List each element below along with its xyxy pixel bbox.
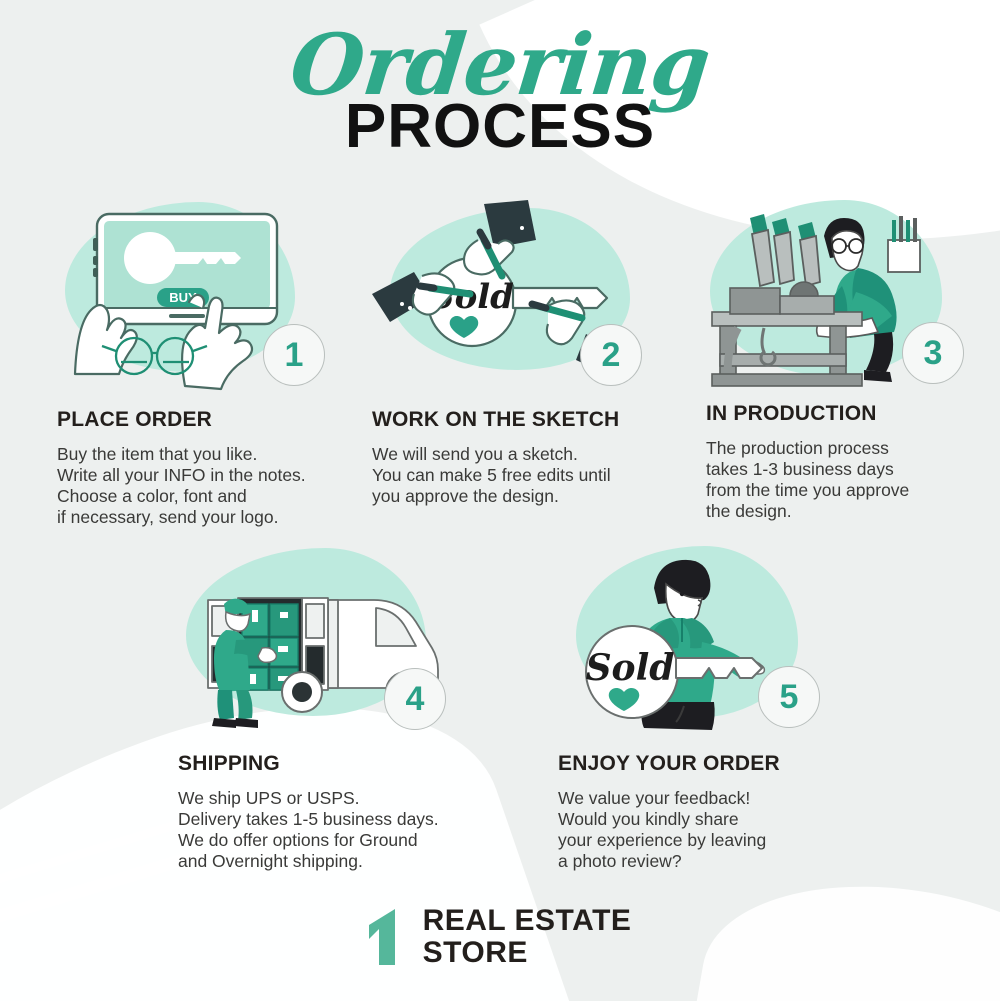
brand-line-1: REAL ESTATE [423, 905, 632, 937]
step-2-body: We will send you a sketch. You can make … [372, 444, 682, 507]
step-4-title: SHIPPING [178, 752, 508, 776]
step-3-illustration: 3 [706, 192, 1000, 382]
page-title: Ordering PROCESS [0, 18, 1000, 158]
step-3-badge: 3 [902, 322, 964, 384]
step-5-illustration: Sold 5 [558, 542, 858, 732]
brand-line-2: STORE [423, 937, 632, 969]
title-script: Ordering [0, 18, 1000, 112]
infographic-page: Ordering PROCESS [0, 0, 1000, 1001]
step-1-badge: 1 [263, 324, 325, 386]
sold-script-label: Sold [586, 647, 675, 689]
step-4-body: We ship UPS or USPS. Delivery takes 1-5 … [178, 788, 508, 872]
brand-footer: REAL ESTATE STORE [0, 905, 1000, 969]
step-3-body: The production process takes 1-3 busines… [706, 438, 1000, 522]
step-5-badge: 5 [758, 666, 820, 728]
step-3-number: 3 [924, 334, 943, 373]
step-2-badge: 2 [580, 324, 642, 386]
step-5-number: 5 [780, 678, 799, 717]
house-roof-icon [369, 909, 409, 965]
step-5: Sold 5 ENJOY YOUR ORDER We value your fe… [558, 542, 888, 872]
step-1-number: 1 [285, 336, 304, 375]
step-1: BUY 1 [57, 196, 367, 528]
hand-top [464, 200, 536, 276]
step-2-illustration: Sold [372, 196, 672, 386]
step-1-title: PLACE ORDER [57, 408, 367, 432]
step-2: Sold [372, 196, 682, 507]
step-1-body: Buy the item that you like. Write all yo… [57, 444, 367, 528]
step-4: 4 SHIPPING We ship UPS or USPS. Delivery… [178, 542, 508, 872]
step-3: 3 IN PRODUCTION The production process t… [706, 192, 1000, 522]
step-4-number: 4 [406, 680, 425, 719]
step-4-badge: 4 [384, 668, 446, 730]
step-2-title: WORK ON THE SKETCH [372, 408, 682, 432]
step-5-body: We value your feedback! Would you kindly… [558, 788, 888, 872]
step-3-title: IN PRODUCTION [706, 402, 1000, 426]
step-1-illustration: BUY 1 [57, 196, 357, 386]
tool-holder-icon [888, 216, 920, 272]
saws-icon [750, 214, 820, 286]
brand-name: REAL ESTATE STORE [423, 905, 632, 969]
step-2-number: 2 [602, 336, 621, 375]
step-5-title: ENJOY YOUR ORDER [558, 752, 888, 776]
step-4-illustration: 4 [178, 542, 478, 732]
